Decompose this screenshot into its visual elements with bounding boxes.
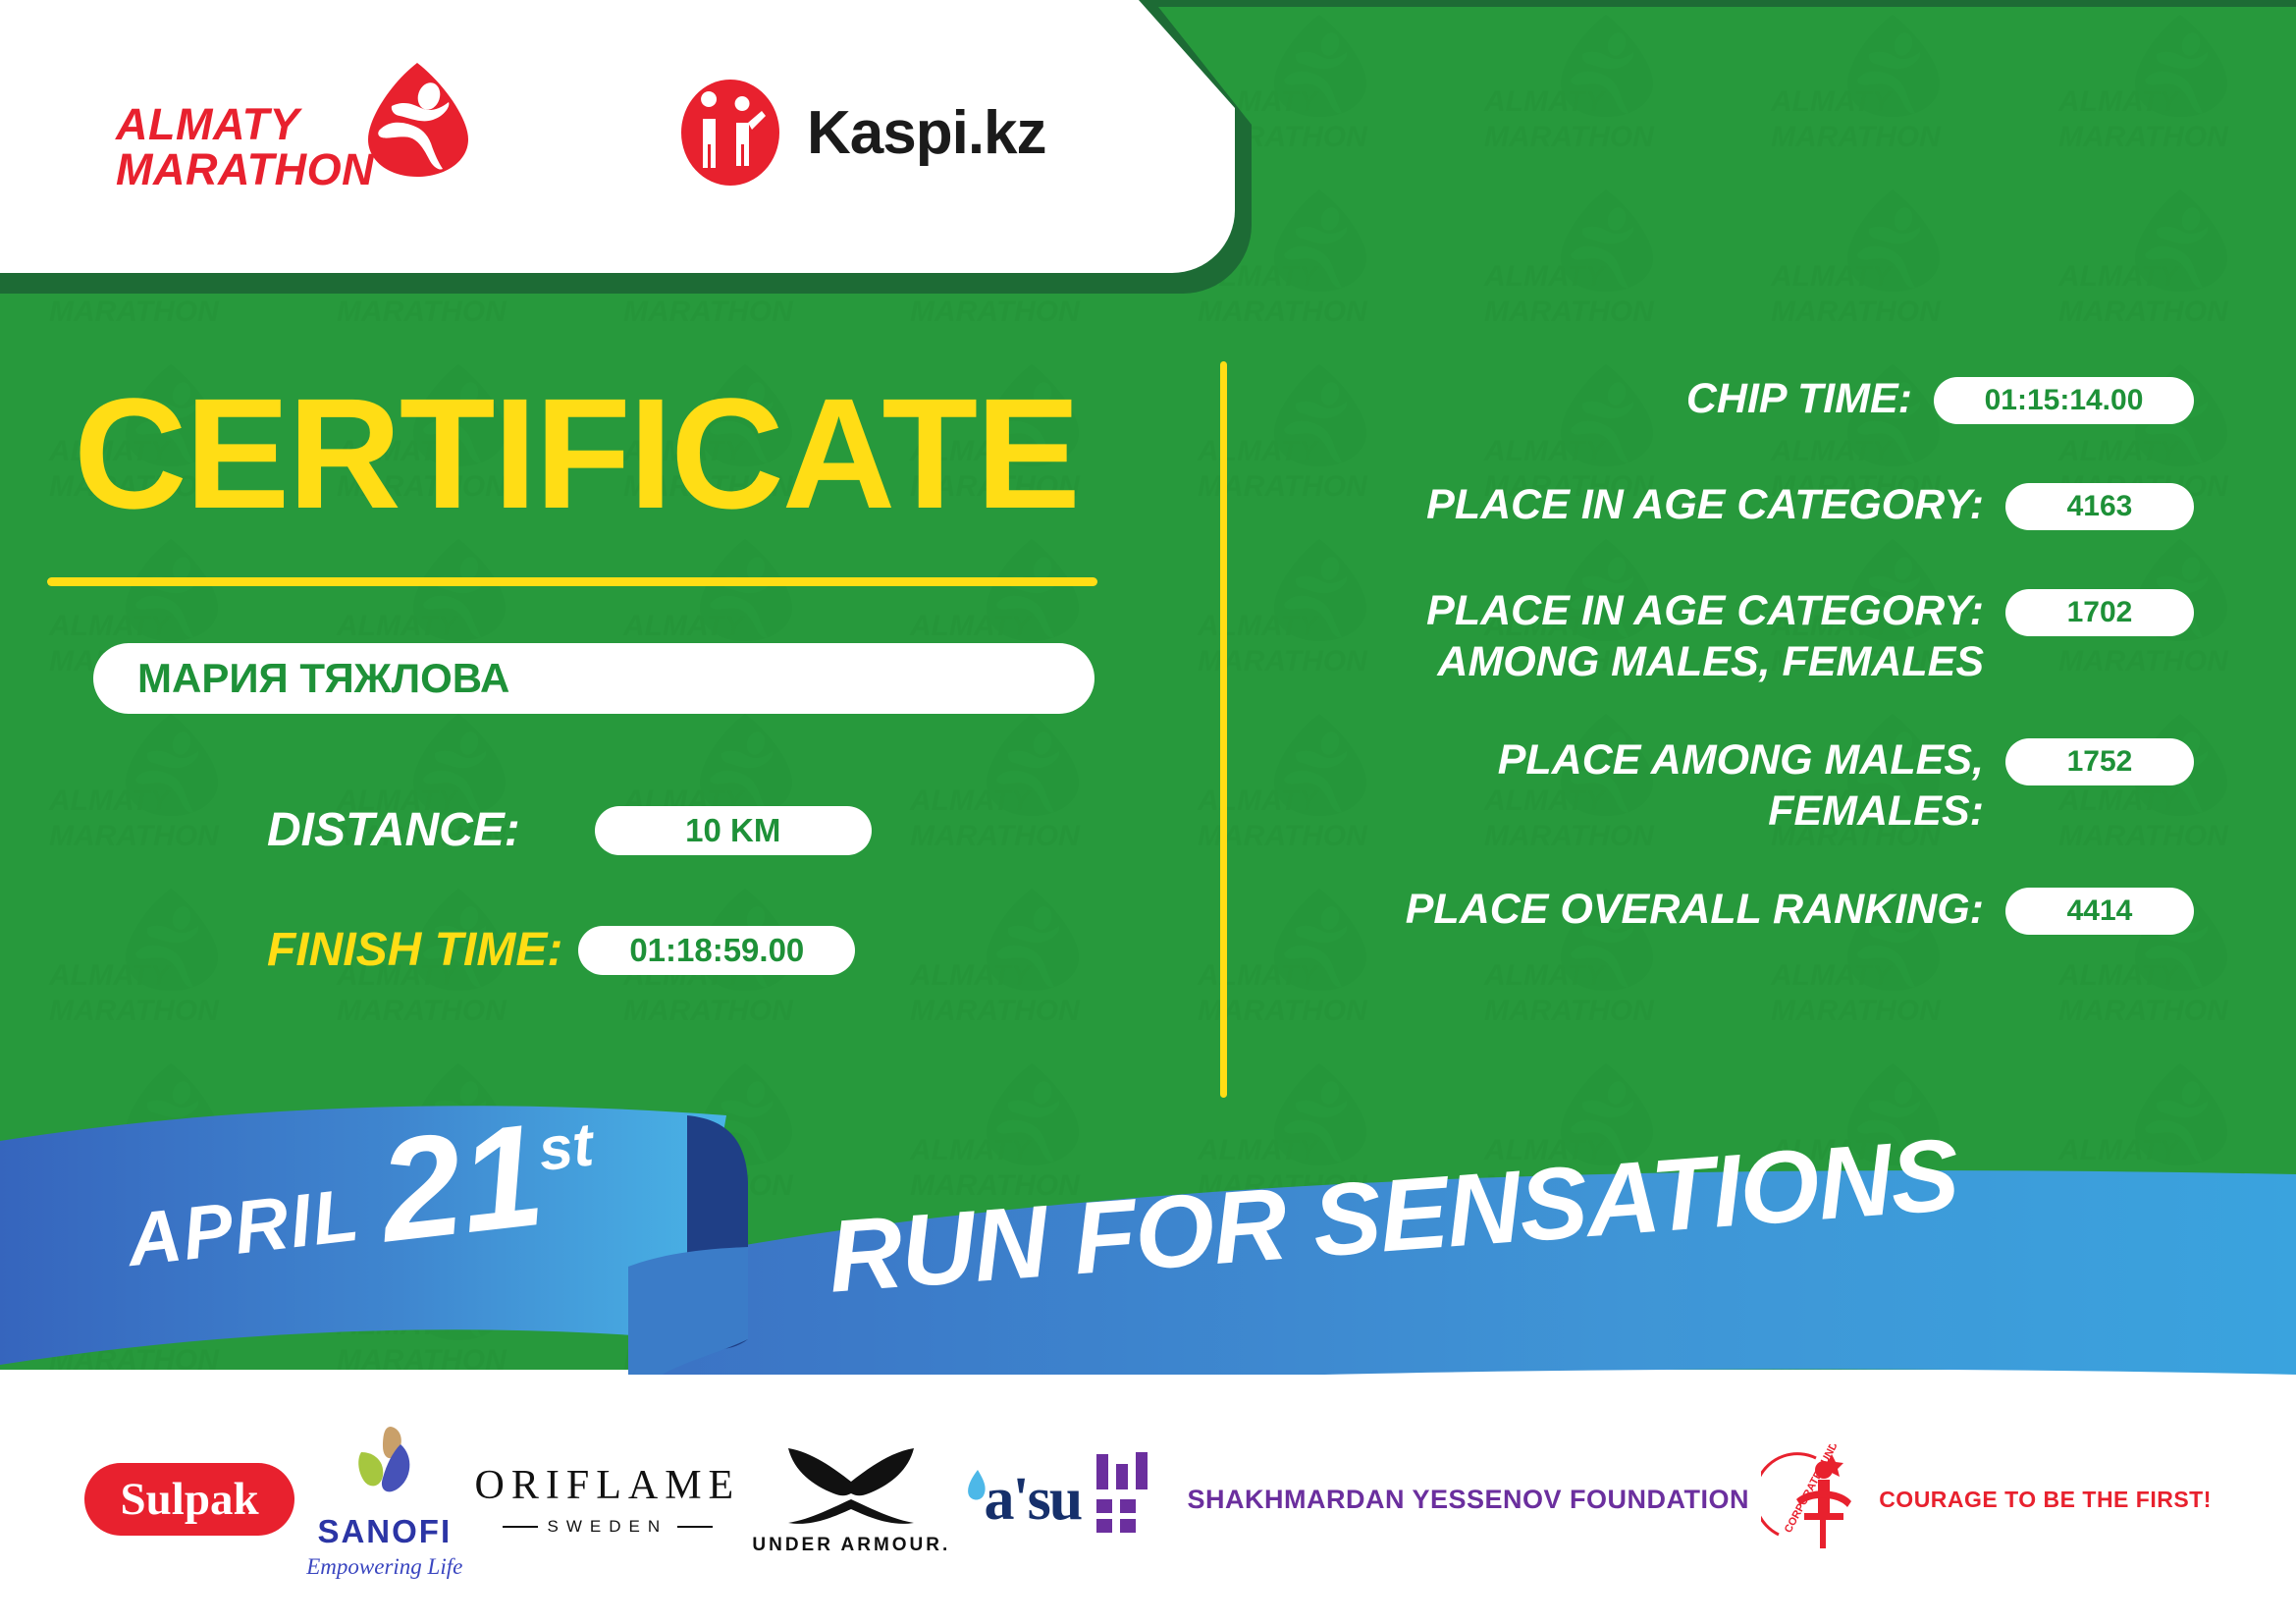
watermark-almaty-marathon: ALMATYMARATHON (1480, 184, 1677, 341)
svg-text:ALMATY: ALMATY (909, 959, 1034, 992)
participant-name: МАРИЯ ТЯЖЛОВА (137, 655, 509, 702)
watermark-almaty-marathon: ALMATYMARATHON (1767, 9, 1963, 166)
stat-row: PLACE AMONG MALES, FEMALES: 1752 (1276, 734, 2194, 837)
svg-text:MARATHON: MARATHON (2058, 296, 2229, 328)
svg-text:MARATHON: MARATHON (1484, 995, 1655, 1027)
courage-fund-text: COURAGE TO BE THE FIRST! (1879, 1486, 2212, 1513)
watermark-almaty-marathon: ALMATYMARATHON (1480, 9, 1677, 166)
distance-label: DISTANCE: (267, 803, 520, 857)
svg-text:ALMATY: ALMATY (1483, 260, 1608, 293)
stat-label: PLACE IN AGE CATEGORY: AMONG MALES, FEMA… (1276, 585, 2005, 687)
kaspi-logo: Kaspi.kz (675, 79, 1046, 187)
certificate-title: CERTIFICATE (74, 375, 1079, 532)
sponsor-courage-fund: CORPORATE FUND COURAGE TO BE THE FIRST! (1761, 1444, 2212, 1554)
stat-value: 01:15:14.00 (1934, 377, 2194, 424)
sulpak-logo: Sulpak (84, 1463, 294, 1536)
under-armour-logo-icon (778, 1442, 924, 1527)
stat-label: PLACE OVERALL RANKING: (1276, 884, 2005, 935)
vertical-divider (1220, 361, 1227, 1098)
watermark-almaty-marathon: ALMATYMARATHON (45, 883, 241, 1040)
svg-text:ALMATY: ALMATY (1483, 85, 1608, 118)
oriflame-dash-left (503, 1526, 538, 1528)
almaty-marathon-logo: ALMATY MARATHON (116, 61, 469, 208)
svg-text:ALMATY: ALMATY (48, 610, 173, 642)
svg-text:MARATHON: MARATHON (910, 995, 1081, 1027)
participant-name-field: МАРИЯ ТЯЖЛОВА (93, 643, 1095, 714)
stat-row: PLACE IN AGE CATEGORY: AMONG MALES, FEMA… (1276, 585, 2194, 687)
svg-text:MARATHON: MARATHON (1771, 121, 1942, 153)
svg-text:MARATHON: MARATHON (910, 820, 1081, 852)
yessenov-foundation-icon (1093, 1452, 1165, 1546)
svg-text:MARATHON: MARATHON (2058, 995, 2229, 1027)
watermark-almaty-marathon: ALMATYMARATHON (906, 883, 1102, 1040)
runner-drop-icon (366, 61, 469, 179)
finish-time-value: 01:18:59.00 (578, 926, 855, 975)
oriflame-subtitle: SWEDEN (548, 1517, 668, 1537)
svg-text:ALMATY: ALMATY (48, 785, 173, 817)
svg-text:MARATHON: MARATHON (2058, 121, 2229, 153)
oriflame-dash-right (677, 1526, 713, 1528)
svg-text:MARATHON: MARATHON (1771, 296, 1942, 328)
svg-text:ALMATY: ALMATY (48, 959, 173, 992)
svg-text:MARATHON: MARATHON (49, 995, 220, 1027)
yessenov-wordmark: SHAKHMARDAN YESSENOV FOUNDATION (1187, 1483, 1749, 1516)
oriflame-wordmark: ORIFLAME (475, 1462, 741, 1509)
svg-text:MARATHON: MARATHON (623, 296, 794, 328)
stat-row: PLACE IN AGE CATEGORY: 4163 (1276, 479, 2194, 538)
sponsor-sulpak: Sulpak (84, 1463, 294, 1536)
sponsor-asu: a'su (962, 1465, 1081, 1535)
sponsor-sanofi: SANOFI Empowering Life (306, 1419, 462, 1580)
stat-row: CHIP TIME: 01:15:14.00 (1276, 373, 2194, 432)
stat-label: PLACE IN AGE CATEGORY: (1276, 479, 2005, 530)
sponsor-under-armour: UNDER ARMOUR. (752, 1442, 950, 1556)
svg-text:ALMATY: ALMATY (622, 610, 747, 642)
marathon-line: MARATHON (116, 147, 381, 192)
under-armour-wordmark: UNDER ARMOUR. (752, 1535, 950, 1556)
svg-text:ALMATY: ALMATY (336, 610, 460, 642)
kaspi-people-icon (675, 78, 785, 188)
event-day-suffix: st (535, 1110, 597, 1185)
sponsor-bar: Sulpak SANOFI Empowering Life ORIFLAME S… (0, 1375, 2296, 1624)
watermark-almaty-marathon: ALMATYMARATHON (2055, 9, 2251, 166)
distance-value: 10 KM (595, 806, 872, 855)
finish-time-label: FINISH TIME: (267, 923, 562, 977)
stat-value: 1752 (2005, 738, 2194, 785)
almaty-marathon-wordmark: ALMATY MARATHON (116, 102, 381, 192)
sanofi-tagline: Empowering Life (306, 1554, 462, 1580)
stats-panel: CHIP TIME: 01:15:14.00 PLACE IN AGE CATE… (1276, 373, 2194, 990)
watermark-almaty-marathon: ALMATYMARATHON (1767, 184, 1963, 341)
oriflame-subtitle-wrap: SWEDEN (503, 1517, 714, 1537)
svg-text:MARATHON: MARATHON (910, 296, 1081, 328)
stat-value: 1702 (2005, 589, 2194, 636)
event-month: APRIL (123, 1172, 364, 1283)
watermark-almaty-marathon: ALMATYMARATHON (906, 708, 1102, 865)
stat-label: PLACE AMONG MALES, FEMALES: (1276, 734, 2005, 837)
svg-text:ALMATY: ALMATY (2057, 85, 2182, 118)
svg-text:MARATHON: MARATHON (1771, 995, 1942, 1027)
stat-value: 4414 (2005, 888, 2194, 935)
sanofi-logo-icon (340, 1419, 430, 1509)
svg-text:ALMATY: ALMATY (1770, 260, 1895, 293)
svg-text:ALMATY: ALMATY (909, 610, 1034, 642)
svg-text:ALMATY: ALMATY (1770, 85, 1895, 118)
svg-text:MARATHON: MARATHON (337, 296, 507, 328)
finish-time-row: FINISH TIME: 01:18:59.00 (267, 923, 855, 977)
distance-row: DISTANCE: 10 KM (267, 803, 872, 857)
svg-text:ALMATY: ALMATY (2057, 260, 2182, 293)
title-underline (47, 577, 1097, 586)
svg-text:MARATHON: MARATHON (49, 296, 220, 328)
svg-text:MARATHON: MARATHON (1484, 121, 1655, 153)
sponsor-yessenov-foundation: SHAKHMARDAN YESSENOV FOUNDATION (1093, 1452, 1749, 1546)
event-day: 21 (373, 1107, 549, 1262)
svg-text:MARATHON: MARATHON (337, 995, 507, 1027)
sponsor-oriflame: ORIFLAME SWEDEN (475, 1462, 741, 1537)
courage-fund-wordmark: COURAGE TO BE THE FIRST! (1879, 1486, 2212, 1513)
svg-text:MARATHON: MARATHON (1198, 296, 1368, 328)
asu-wordmark: a'su (984, 1465, 1081, 1535)
svg-text:ALMATY: ALMATY (909, 785, 1034, 817)
almaty-line: ALMATY (116, 102, 381, 147)
stat-value: 4163 (2005, 483, 2194, 530)
stat-label: CHIP TIME: (1276, 373, 1934, 424)
svg-text:MARATHON: MARATHON (1484, 296, 1655, 328)
svg-text:MARATHON: MARATHON (623, 995, 794, 1027)
sanofi-wordmark: SANOFI (317, 1513, 452, 1550)
svg-text:MARATHON: MARATHON (49, 820, 220, 852)
kaspi-wordmark: Kaspi.kz (807, 98, 1046, 168)
watermark-almaty-marathon: ALMATYMARATHON (2055, 184, 2251, 341)
stat-row: PLACE OVERALL RANKING: 4414 (1276, 884, 2194, 943)
courage-fund-icon: CORPORATE FUND (1761, 1444, 1869, 1554)
watermark-almaty-marathon: ALMATYMARATHON (45, 708, 241, 865)
